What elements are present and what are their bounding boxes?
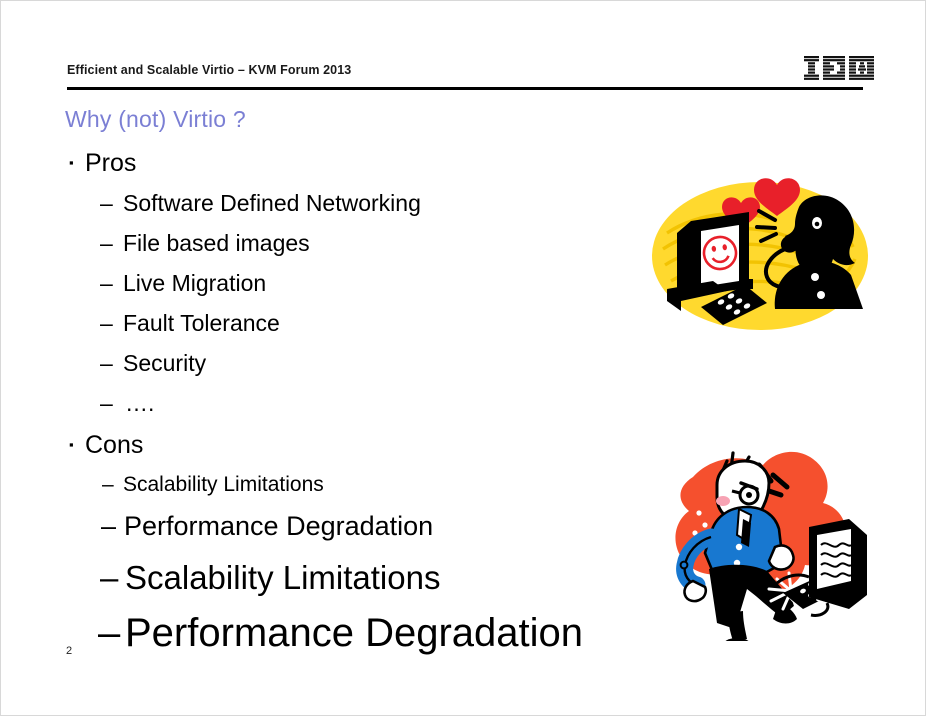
dash-bullet-icon: – [101,511,116,542]
dash-bullet-icon: – [100,190,113,217]
angry-man-kicking-keyboard-clipart [651,441,871,641]
happy-user-at-computer-clipart [649,161,871,346]
slide-header-text: Efficient and Scalable Virtio – KVM Foru… [67,63,351,77]
bullet-label: Software Defined Networking [123,190,421,217]
bullet-label: Performance Degradation [124,511,433,542]
bullet-label: Performance Degradation [125,611,583,656]
page-title: Why (not) Virtio ? [65,106,246,133]
bullet-label: Scalability Limitations [125,559,440,597]
dash-bullet-icon: – [100,310,113,337]
dash-bullet-icon: – [100,350,113,377]
dash-bullet-icon: – [102,473,114,497]
slide-number: 2 [66,645,72,657]
dash-bullet-icon: – [100,230,113,257]
dash-bullet-icon: – [98,611,120,656]
bullet-label: Live Migration [123,270,266,297]
ibm-logo [804,56,874,80]
bullet-label: Security [123,350,206,377]
dash-bullet-icon: – [100,390,113,417]
bullet-label: Cons [85,431,143,460]
bullet-label: Pros [85,149,136,178]
bullet-label: File based images [123,230,310,257]
dash-bullet-icon: – [100,559,118,597]
bullet-label: Fault Tolerance [123,310,280,337]
bullet-label: Scalability Limitations [123,473,324,497]
square-bullet-icon: ▪ [69,155,83,170]
header-divider-rule [67,87,863,90]
square-bullet-icon: ▪ [69,437,83,452]
dash-bullet-icon: – [100,270,113,297]
bullet-label: …. [125,390,154,417]
slide-canvas: Efficient and Scalable Virtio – KVM Foru… [0,0,926,716]
